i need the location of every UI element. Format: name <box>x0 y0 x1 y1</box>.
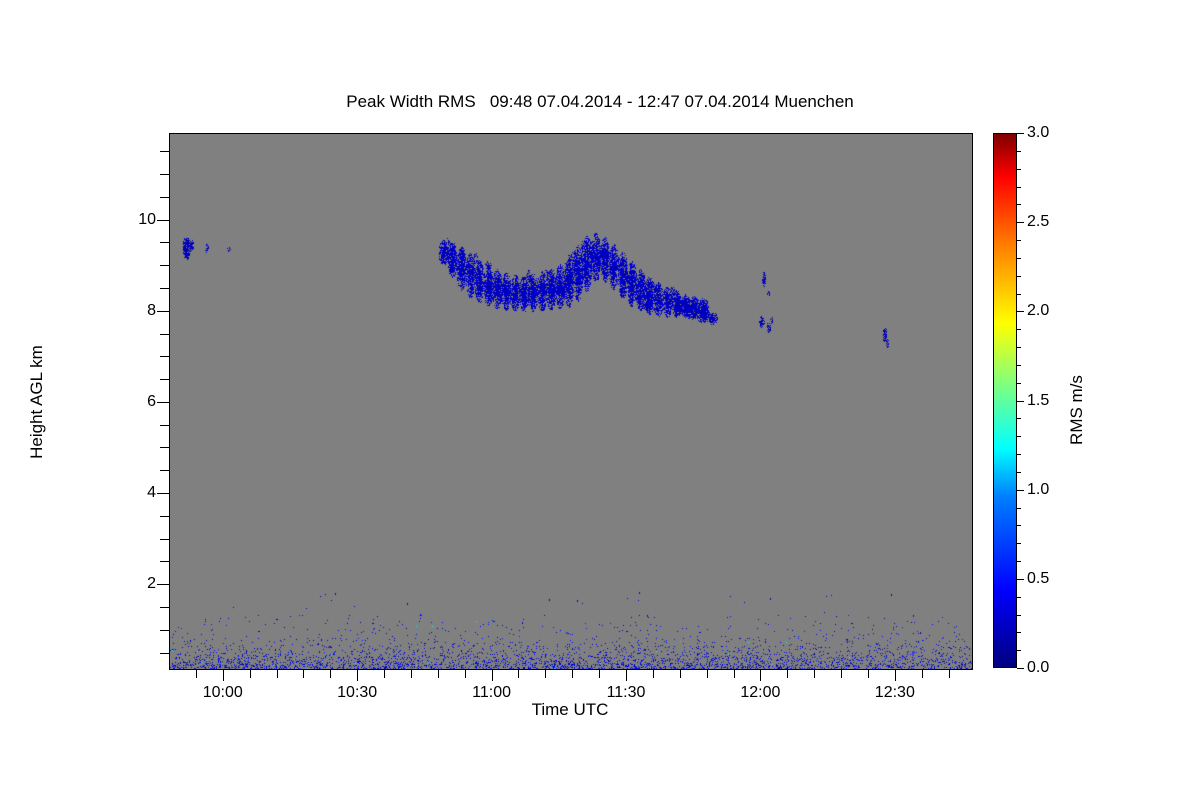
y-minor-tick <box>160 539 169 540</box>
y-minor-tick <box>160 447 169 448</box>
x-minor-tick <box>250 669 251 678</box>
colorbar-minor-tick <box>1017 472 1021 473</box>
colorbar-minor-tick <box>1017 525 1021 526</box>
colorbar-minor-tick <box>1017 169 1021 170</box>
x-minor-tick <box>545 669 546 678</box>
x-minor-tick <box>465 669 466 678</box>
y-major-tick <box>157 493 169 494</box>
y-major-tick <box>157 220 169 221</box>
colorbar-minor-tick <box>1017 204 1021 205</box>
x-minor-tick <box>196 669 197 678</box>
colorbar-major-tick <box>1017 401 1024 402</box>
y-minor-tick <box>160 197 169 198</box>
x-major-tick <box>626 669 627 681</box>
y-tick-label: 10 <box>138 211 156 229</box>
colorbar-minor-tick <box>1017 187 1021 188</box>
colorbar-tick-label: 1.5 <box>1027 392 1049 410</box>
colorbar-major-tick <box>1017 222 1024 223</box>
y-minor-tick <box>160 470 169 471</box>
y-minor-tick <box>160 653 169 654</box>
y-axis-tick-labels: 246810 <box>100 133 156 668</box>
x-minor-tick <box>277 669 278 678</box>
y-major-tick <box>157 311 169 312</box>
x-major-tick <box>895 669 896 681</box>
x-minor-tick <box>303 669 304 678</box>
colorbar-minor-tick <box>1017 632 1021 633</box>
y-minor-tick <box>160 379 169 380</box>
x-major-tick <box>492 669 493 681</box>
colorbar-tick-label: 2.0 <box>1027 302 1049 320</box>
colorbar-minor-tick <box>1017 454 1021 455</box>
y-tick-label: 2 <box>147 575 156 593</box>
colorbar-minor-tick <box>1017 543 1021 544</box>
y-minor-tick <box>160 607 169 608</box>
y-minor-tick <box>160 334 169 335</box>
colorbar-minor-tick <box>1017 508 1021 509</box>
x-minor-tick <box>411 669 412 678</box>
x-minor-tick <box>814 669 815 678</box>
x-minor-tick <box>330 669 331 678</box>
colorbar-minor-tick <box>1017 240 1021 241</box>
y-minor-tick <box>160 561 169 562</box>
colorbar-tick-label: 2.5 <box>1027 213 1049 231</box>
colorbar-title: RMS m/s <box>1067 300 1087 520</box>
y-minor-tick <box>160 356 169 357</box>
colorbar-gradient <box>993 133 1017 668</box>
y-minor-tick <box>160 516 169 517</box>
colorbar[interactable]: 0.00.51.01.52.02.53.0 <box>993 133 1017 668</box>
colorbar-major-tick <box>1017 490 1024 491</box>
x-minor-tick <box>653 669 654 678</box>
colorbar-minor-tick <box>1017 597 1021 598</box>
x-major-tick <box>223 669 224 681</box>
y-minor-tick <box>160 174 169 175</box>
x-minor-tick <box>384 669 385 678</box>
y-minor-tick <box>160 425 169 426</box>
y-minor-tick <box>160 630 169 631</box>
y-tick-label: 4 <box>147 484 156 502</box>
colorbar-tick-label: 0.5 <box>1027 570 1049 588</box>
x-major-tick <box>760 669 761 681</box>
colorbar-minor-tick <box>1017 276 1021 277</box>
heatmap-data-layer <box>170 134 972 669</box>
plot-area[interactable] <box>169 133 973 670</box>
colorbar-tick-label: 1.0 <box>1027 481 1049 499</box>
y-minor-tick <box>160 242 169 243</box>
x-major-tick <box>357 669 358 681</box>
x-minor-tick <box>572 669 573 678</box>
y-minor-tick <box>160 265 169 266</box>
colorbar-major-tick <box>1017 133 1024 134</box>
x-minor-tick <box>599 669 600 678</box>
y-major-tick <box>157 402 169 403</box>
x-minor-tick <box>787 669 788 678</box>
colorbar-minor-tick <box>1017 383 1021 384</box>
colorbar-tick-label: 3.0 <box>1027 124 1049 142</box>
colorbar-major-tick <box>1017 668 1024 669</box>
x-minor-tick <box>707 669 708 678</box>
colorbar-minor-tick <box>1017 258 1021 259</box>
colorbar-minor-tick <box>1017 347 1021 348</box>
page-title: Peak Width RMS 09:48 07.04.2014 - 12:47 … <box>0 92 1200 112</box>
colorbar-minor-tick <box>1017 561 1021 562</box>
x-minor-tick <box>841 669 842 678</box>
figure-canvas: Peak Width RMS 09:48 07.04.2014 - 12:47 … <box>0 0 1200 800</box>
colorbar-minor-tick <box>1017 294 1021 295</box>
colorbar-major-tick <box>1017 311 1024 312</box>
colorbar-minor-tick <box>1017 365 1021 366</box>
y-minor-tick <box>160 151 169 152</box>
colorbar-minor-tick <box>1017 418 1021 419</box>
y-tick-label: 8 <box>147 302 156 320</box>
x-minor-tick <box>949 669 950 678</box>
colorbar-minor-tick <box>1017 329 1021 330</box>
x-minor-tick <box>734 669 735 678</box>
x-axis-ticks <box>169 669 971 683</box>
x-minor-tick <box>868 669 869 678</box>
colorbar-major-tick <box>1017 579 1024 580</box>
y-axis-title: Height AGL km <box>27 202 47 602</box>
colorbar-minor-tick <box>1017 650 1021 651</box>
x-minor-tick <box>922 669 923 678</box>
colorbar-minor-tick <box>1017 436 1021 437</box>
x-minor-tick <box>680 669 681 678</box>
y-major-tick <box>157 584 169 585</box>
colorbar-minor-tick <box>1017 151 1021 152</box>
x-minor-tick <box>438 669 439 678</box>
x-axis-title: Time UTC <box>169 700 971 720</box>
colorbar-tick-label: 0.0 <box>1027 659 1049 677</box>
x-minor-tick <box>518 669 519 678</box>
colorbar-minor-tick <box>1017 615 1021 616</box>
y-tick-label: 6 <box>147 393 156 411</box>
y-minor-tick <box>160 288 169 289</box>
